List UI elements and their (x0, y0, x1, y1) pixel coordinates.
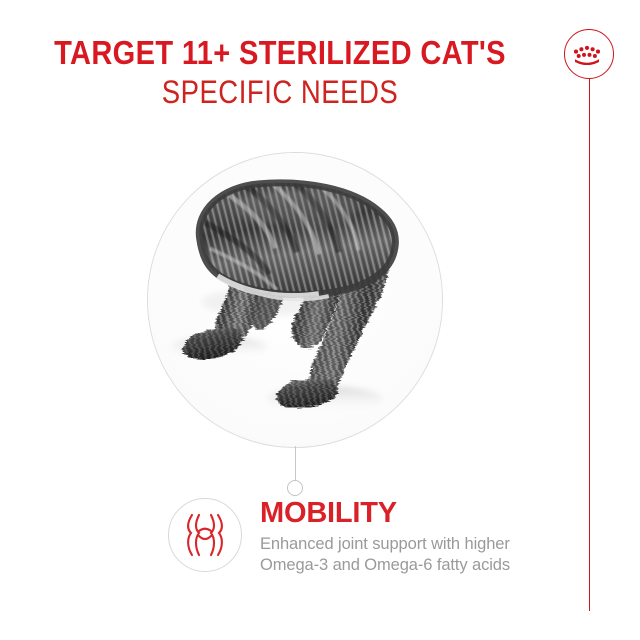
joint-mobility-icon (182, 511, 228, 559)
product-benefit-panel: TARGET 11+ STERILIZED CAT'S SPECIFIC NEE… (0, 0, 640, 640)
crown-icon (573, 43, 605, 65)
brand-logo (564, 29, 614, 79)
logo-vertical-rule (589, 78, 590, 611)
callout-connector-line (295, 446, 296, 482)
headline-line-1: TARGET 11+ STERILIZED CAT'S (34, 34, 527, 72)
benefit-description-line-2: Omega-3 and Omega-6 fatty acids (260, 555, 570, 576)
benefit-icon-circle (168, 498, 242, 572)
benefit-description: Enhanced joint support with higher Omega… (260, 534, 570, 576)
callout-connector-ring (287, 480, 303, 496)
benefit-description-line-1: Enhanced joint support with higher (260, 534, 570, 555)
cat-hind-legs-photo (148, 153, 442, 447)
benefit-block: MOBILITY Enhanced joint support with hig… (168, 497, 568, 607)
benefit-title: MOBILITY (260, 497, 570, 530)
hero-photo (147, 152, 443, 448)
headline-line-2: SPECIFIC NEEDS (39, 72, 521, 112)
benefit-text: MOBILITY Enhanced joint support with hig… (260, 497, 570, 576)
headline: TARGET 11+ STERILIZED CAT'S SPECIFIC NEE… (0, 34, 560, 112)
